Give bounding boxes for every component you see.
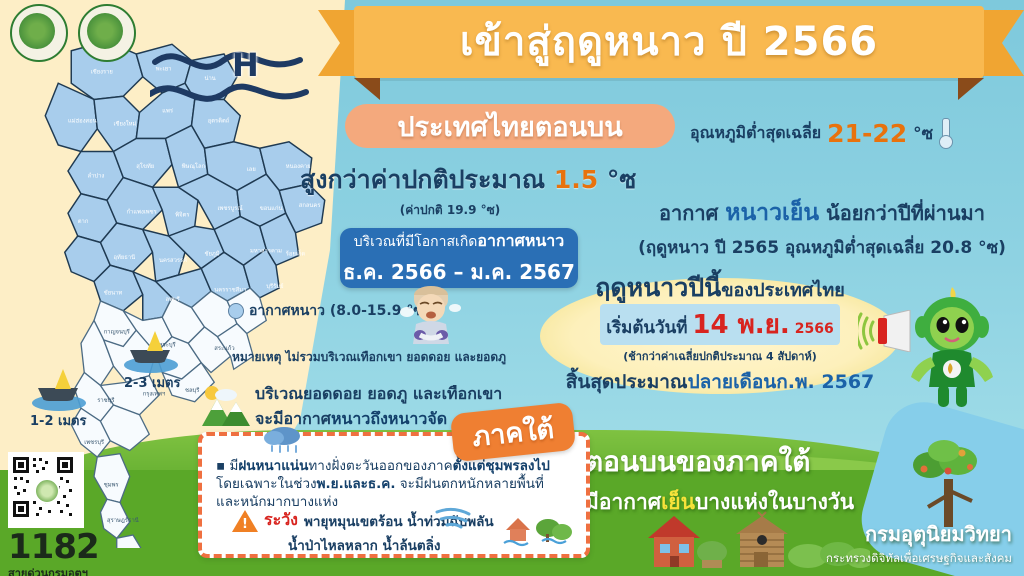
upper-south-title: ตอนบนของภาคใต้	[585, 440, 915, 484]
hotline-label: สายด่วนกรมอุตุฯ	[8, 564, 116, 576]
min-temp-label: อุณหภูมิต่ำสุดเฉลี่ย	[690, 121, 821, 146]
above-normal-block: สูงกว่าค่าปกติประมาณ 1.5 °ซ (ค่าปกติ 19.…	[300, 160, 660, 220]
min-temp-unit: °ซ	[913, 120, 933, 147]
colder-emphasis: หนาวเย็น	[725, 200, 819, 226]
winter-title-sub: ของประเทศไทย	[721, 280, 845, 301]
south-b2a: โดยเฉพาะในช่วง	[216, 476, 317, 492]
ministry-emblem-icon	[78, 4, 136, 62]
svg-text:ราชบุรี: ราชบุรี	[97, 397, 114, 404]
south-b2b: พ.ย.และธ.ค.	[317, 476, 396, 492]
svg-text:มหาสารคาม: มหาสารคาม	[250, 247, 282, 254]
svg-text:ชัยภูมิ: ชัยภูมิ	[205, 250, 220, 258]
winter-end-label: สิ้นสุด	[566, 371, 615, 393]
qr-code[interactable]	[8, 452, 84, 528]
winter-start-day: 14 พ.ย.	[692, 304, 789, 345]
flood-scene-icon	[502, 508, 578, 548]
warning-triangle-icon	[232, 510, 258, 532]
mountain-icon	[200, 382, 252, 428]
previous-year-note: (ฤดูหนาว ปี 2565 อุณหภูมิต่ำสุดเฉลี่ย 20…	[620, 234, 1024, 261]
upper-thailand-pill: ประเทศไทยตอนบน	[345, 104, 675, 148]
above-normal-value: 1.5	[554, 165, 598, 194]
svg-text:กำแพงเพชร: กำแพงเพชร	[127, 208, 157, 215]
winter-start-note: (ช้ากว่าค่าเฉลี่ยปกติประมาณ 4 สัปดาห์)	[623, 347, 816, 365]
min-temp-value: 21-22	[827, 119, 907, 148]
rain-cloud-icon	[262, 424, 306, 454]
svg-text:เพชรบูรณ์: เพชรบูรณ์	[218, 204, 244, 212]
upper-south-block: ตอนบนของภาคใต้ มีอากาศเย็นบางแห่งในบางวั…	[585, 440, 915, 519]
svg-text:นครสวรรค์: นครสวรรค์	[159, 256, 187, 264]
above-normal-unit: °ซ	[607, 165, 636, 194]
upper-south-b: เย็น	[661, 490, 695, 514]
qr-center-logo-icon	[34, 478, 60, 504]
hotline-block: 1182 สายด่วนกรมอุตุฯ www.tmd.go.th	[8, 452, 116, 576]
brand-footer: กรมอุตุนิยมวิทยา กระทรวงดิจิทัลเพื่อเศรษ…	[826, 518, 1012, 568]
peaks-line2-emphasis: หนาวถึงหนาวจัด	[331, 409, 447, 428]
autumn-tree	[900, 435, 1000, 530]
high-pressure-symbol: H	[232, 46, 259, 84]
wave-height-west: 1-2 เมตร	[30, 410, 86, 431]
wave-height-east: 2-3 เมตร	[124, 372, 180, 393]
legend-footnote: หมายเหตุ ไม่รวมบริเวณเทือกเขา ยอดดอย และ…	[232, 348, 506, 367]
colder-suffix: น้อยกว่าปีที่ผ่านมา	[826, 201, 985, 225]
thermometer-icon	[939, 118, 951, 148]
winter-end-approx: ประมาณ	[614, 371, 687, 393]
svg-text:ลพบุรี: ลพบุรี	[166, 296, 180, 303]
winter-title: ฤดูหนาวปีนี้	[595, 273, 721, 302]
cold-person-illustration	[400, 278, 462, 348]
south-b2c: จะมีฝนตกหนักหลายพื้นที่	[400, 476, 544, 492]
warning-label: ระวัง	[264, 508, 298, 533]
svg-text:ขอนแก่น: ขอนแก่น	[260, 205, 283, 212]
page-title: เข้าสู่ฤดูหนาว ปี 2566	[460, 22, 878, 62]
svg-text:แม่ฮ่องสอน: แม่ฮ่องสอน	[68, 117, 97, 124]
title-banner: เข้าสู่ฤดูหนาว ปี 2566	[318, 6, 1024, 88]
upper-south-a: มีอากาศ	[585, 490, 661, 514]
south-bullet-block: ▪ มีฝนหนาแน่นทางฝั่งตะวันออกของภาคตั้งแต…	[216, 458, 556, 511]
cyclone-icon	[434, 506, 474, 532]
svg-text:บุรีรัมย์: บุรีรัมย์	[266, 282, 283, 290]
winter-season-panel: ฤดูหนาวปีนี้ของประเทศไทย เริ่มต้นวันที่ …	[540, 278, 900, 394]
svg-text:เชียงราย: เชียงราย	[91, 69, 113, 76]
svg-text:เพชรบุรี: เพชรบุรี	[84, 439, 104, 446]
winter-start-label: เริ่มต้นวันที่	[606, 314, 687, 341]
min-temperature-row: อุณหภูมิต่ำสุดเฉลี่ย 21-22 °ซ	[690, 118, 1020, 148]
legend-swatch-icon	[228, 303, 244, 319]
normal-value-note: (ค่าปกติ 19.9 °ซ)	[300, 201, 600, 220]
cold-box-emphasis: อากาศหนาว	[477, 231, 564, 250]
hotline-number: 1182	[8, 530, 116, 564]
svg-text:ตาก: ตาก	[78, 219, 89, 225]
svg-text:นครราชสีมา: นครราชสีมา	[214, 286, 246, 293]
infographic-poster: เชียงราย พะเยา น่าน แม่ฮ่องสอน เชียงใหม่…	[0, 0, 1024, 576]
south-b1c: ทางฝั่งตะวันออกของภาค	[308, 458, 452, 474]
boat-east-icon	[128, 350, 172, 363]
cold-box-prefix: บริเวณที่มีโอกาสเกิด	[354, 234, 478, 250]
svg-text:พิจิตร: พิจิตร	[175, 212, 189, 219]
upper-thailand-label: ประเทศไทยตอนบน	[397, 105, 622, 148]
upper-south-c: บางแห่งในบางวัน	[695, 490, 854, 514]
svg-text:สุโขทัย: สุโขทัย	[136, 162, 154, 170]
svg-text:เลย: เลย	[247, 167, 256, 173]
boat-west-icon	[36, 388, 80, 401]
winter-end-date: ปลายเดือนก.พ. 2567	[688, 371, 875, 393]
tmd-emblem-icon	[10, 4, 68, 62]
department-name: กรมอุตุนิยมวิทยา	[826, 518, 1012, 550]
winter-start-year: 2566	[795, 321, 834, 337]
comparison-block: อากาศ หนาวเย็น น้อยกว่าปีที่ผ่านมา (ฤดูห…	[620, 195, 1024, 261]
south-b1b: ฝนหนาแน่น	[238, 458, 308, 474]
svg-text:ชัยนาท: ชัยนาท	[104, 289, 123, 297]
south-badge-label: ภาคใต้	[470, 406, 556, 457]
peaks-line1: บริเวณยอดดอย ยอดภู และเทือกเขา	[255, 382, 555, 407]
svg-text:ชลบุรี: ชลบุรี	[185, 387, 199, 394]
svg-text:เชียงใหม่: เชียงใหม่	[114, 120, 137, 128]
colder-prefix: อากาศ	[659, 201, 718, 225]
svg-text:อุทัยธานี: อุทัยธานี	[114, 253, 136, 261]
ribbon-tail-right	[980, 10, 1024, 76]
svg-text:ลำปาง: ลำปาง	[88, 173, 105, 180]
banner-body: เข้าสู่ฤดูหนาว ปี 2566	[354, 6, 984, 78]
svg-text:พิษณุโลก: พิษณุโลก	[182, 162, 206, 170]
ministry-name: กระทรวงดิจิทัลเพื่อเศรษฐกิจและสังคม	[826, 550, 1012, 568]
svg-text:กาญจนบุรี: กาญจนบุรี	[104, 329, 130, 336]
mascot-character	[905, 285, 1000, 410]
above-normal-text: สูงกว่าค่าปกติประมาณ	[300, 165, 545, 194]
